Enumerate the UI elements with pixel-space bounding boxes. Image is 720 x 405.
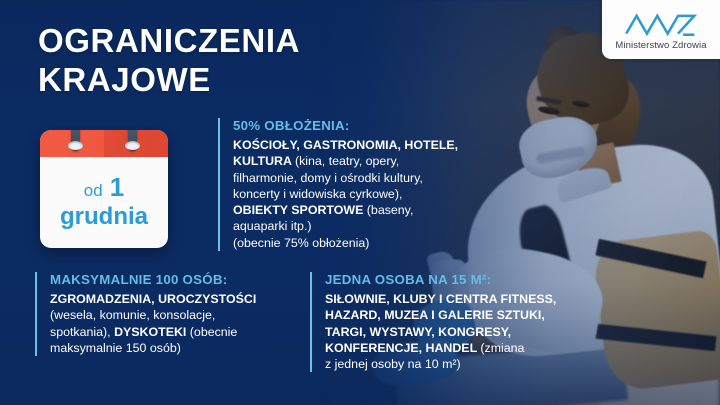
mz-zigzag-logo-icon — [624, 11, 698, 37]
calendar-ring-right — [128, 130, 137, 151]
rule-panel-occupancy: 50% OBŁOŻENIA: KOŚCIOŁY, GASTRONOMIA, HO… — [218, 118, 483, 251]
poster-canvas: OGRANICZENIA KRAJOWE Ministerstwo Zdrowi… — [0, 0, 720, 405]
rule-panel-gatherings: MAKSYMALNIE 100 OSÓB: ZGROMADZENIA, UROC… — [35, 272, 300, 356]
rule-panel-area-title: JEDNA OSOBA NA 15 M²: — [325, 272, 595, 287]
ministry-logo-caption: Ministerstwo Zdrowia — [615, 40, 706, 51]
calendar-date-line: od 1 — [84, 172, 124, 203]
calendar-body: od 1 grudnia — [40, 157, 168, 248]
calendar-badge: od 1 grudnia — [40, 130, 168, 248]
rule-panel-gatherings-body: ZGROMADZENIA, UROCZYSTOŚCI(wesela, komun… — [50, 291, 300, 356]
rule-panel-gatherings-title: MAKSYMALNIE 100 OSÓB: — [50, 272, 300, 287]
rule-panel-occupancy-body: KOŚCIOŁY, GASTRONOMIA, HOTELE,KULTURA (k… — [233, 137, 483, 251]
calendar-prefix: od — [84, 181, 103, 201]
rule-panel-occupancy-title: 50% OBŁOŻENIA: — [233, 118, 483, 133]
page-title: OGRANICZENIA KRAJOWE — [38, 22, 300, 100]
rule-panel-area: JEDNA OSOBA NA 15 M²: SIŁOWNIE, KLUBY I … — [310, 272, 595, 372]
calendar-header-bar — [40, 130, 168, 157]
calendar-day: 1 — [110, 172, 124, 203]
rule-panel-area-body: SIŁOWNIE, KLUBY I CENTRA FITNESS,HAZARD,… — [325, 291, 595, 372]
calendar-month: grudnia — [60, 204, 148, 229]
ministry-logo-plate: Ministerstwo Zdrowia — [602, 0, 720, 59]
calendar-ring-left — [71, 130, 80, 151]
